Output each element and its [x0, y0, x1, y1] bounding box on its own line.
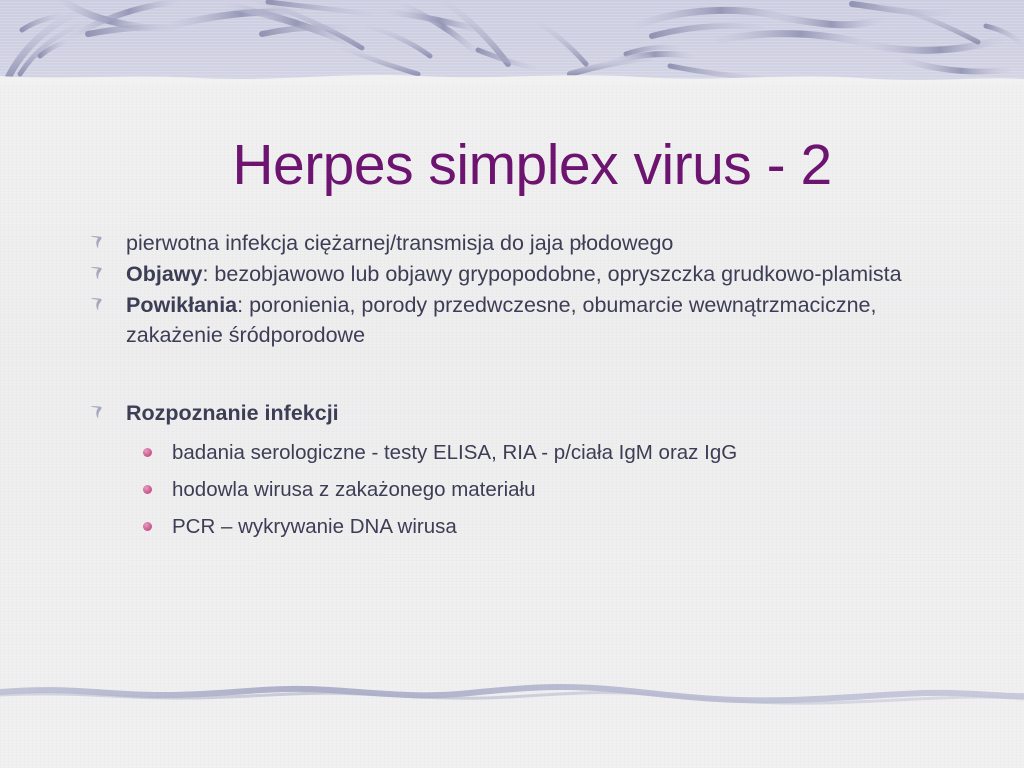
- header-brush-strokes-icon: [0, 0, 1024, 84]
- bullet-item: Powikłania: poronienia, porody przedwcze…: [86, 290, 966, 350]
- section-heading-label: Rozpoznanie infekcji: [126, 401, 339, 425]
- bullet-text: : bezobjawowo lub objawy grypopodobne, o…: [202, 262, 901, 286]
- bullet-item: pierwotna infekcja ciężarnej/transmisja …: [86, 228, 966, 258]
- slide-header-decoration: [0, 0, 1024, 84]
- dot-bullet-icon: [143, 448, 152, 457]
- sub-bullet-text: PCR – wykrywanie DNA wirusa: [172, 515, 457, 538]
- sub-bullet-item: PCR – wykrywanie DNA wirusa: [143, 508, 966, 545]
- section-sub-list: badania serologiczne - testy ELISA, RIA …: [86, 434, 966, 545]
- dot-bullet-icon: [143, 485, 152, 494]
- presentation-slide: Herpes simplex virus - 2 pierwotna infek…: [0, 0, 1024, 768]
- bullet-text: pierwotna infekcja ciężarnej/transmisja …: [126, 231, 673, 255]
- bullet-lead-label: Objawy: [126, 262, 202, 286]
- slide-footer-decoration: [0, 676, 1024, 716]
- dot-bullet-icon: [143, 522, 152, 531]
- slide-body: pierwotna infekcja ciężarnej/transmisja …: [86, 228, 966, 545]
- bullet-text: : poronienia, porody przedwczesne, obuma…: [126, 293, 876, 347]
- bullet-lead-label: Powikłania: [126, 293, 237, 317]
- hook-bullet-icon: [88, 265, 104, 282]
- section-heading-item: Rozpoznanie infekcji: [86, 398, 966, 428]
- hook-bullet-icon: [88, 404, 104, 421]
- sub-bullet-item: hodowla wirusa z zakażonego materiału: [143, 471, 966, 508]
- slide-title: Herpes simplex virus - 2: [0, 136, 1024, 196]
- hook-bullet-icon: [88, 296, 104, 313]
- sub-bullet-item: badania serologiczne - testy ELISA, RIA …: [143, 434, 966, 471]
- sub-bullet-text: badania serologiczne - testy ELISA, RIA …: [172, 441, 737, 464]
- bullet-item: Objawy: bezobjawowo lub objawy grypopodo…: [86, 259, 966, 289]
- hook-bullet-icon: [88, 234, 104, 251]
- sub-bullet-text: hodowla wirusa z zakażonego materiału: [172, 478, 536, 501]
- body-spacer: [86, 351, 966, 398]
